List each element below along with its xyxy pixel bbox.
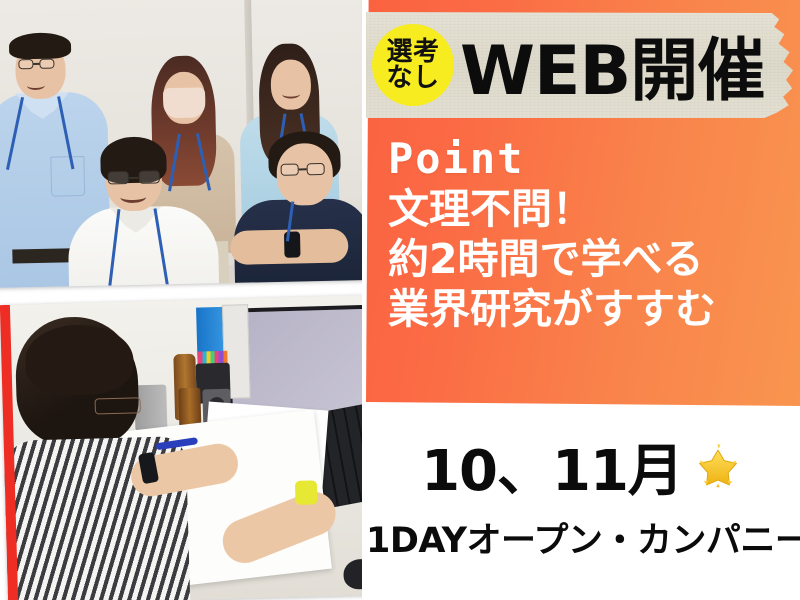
badge-line-1: 選考 (386, 39, 439, 65)
yellow-marker (295, 480, 318, 505)
month-row: 10、11月 (366, 426, 800, 507)
person-5-glasses (281, 163, 325, 176)
photo-column (0, 0, 362, 600)
glowing-star-icon (691, 440, 745, 494)
person-1-pocket (50, 156, 85, 197)
person-2-glasses (108, 170, 160, 184)
point-line-2: 約2時間で学べる (388, 234, 788, 284)
point-line-1: 文理不問！ (388, 184, 788, 234)
web-event-title: WEB開催 (460, 19, 764, 109)
person-1-glasses (18, 59, 54, 70)
no-screening-badge: 選考 なし (372, 24, 454, 106)
person-3-face-mask (163, 87, 206, 118)
desk-work-photo (0, 295, 362, 600)
poster-root: 選考 なし WEB開催 Point 文理不問！ 約2時間で学べる 業界研究がすす… (0, 0, 800, 600)
event-month: 10、11月 (421, 426, 683, 507)
badge-line-2: なし (386, 65, 439, 91)
point-block: Point 文理不問！ 約2時間で学べる 業界研究がすすむ (388, 138, 788, 334)
point-line-3: 業界研究がすすむ (388, 284, 788, 334)
person-1-hair (9, 32, 72, 59)
footer-block: 10、11月 (366, 408, 800, 600)
point-label: Point (388, 138, 788, 180)
team-group-photo (0, 0, 362, 288)
person-4-head (270, 59, 311, 110)
person-6-glasses (95, 397, 141, 414)
campaign-name: 1DAYオープン・カンパニー (366, 512, 800, 563)
